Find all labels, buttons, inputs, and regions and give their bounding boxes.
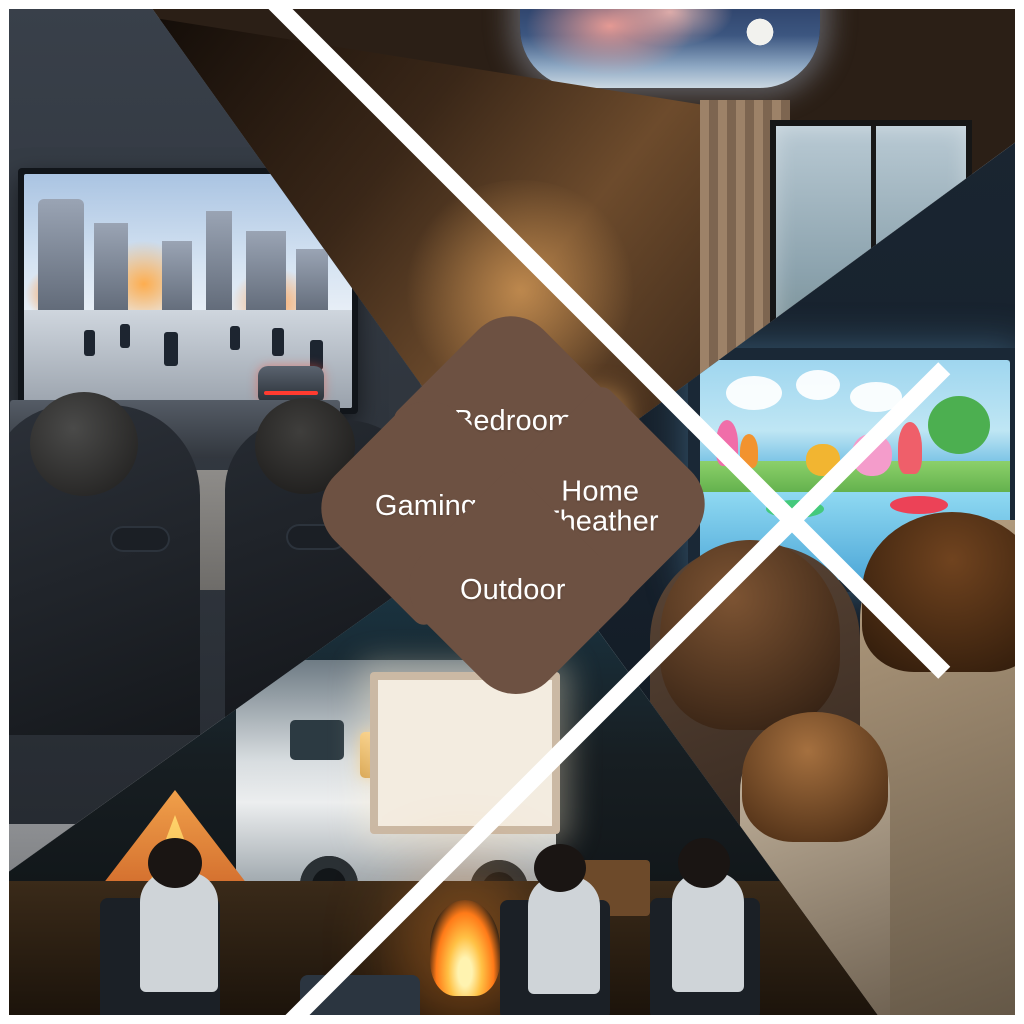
badge-label-home-theater-line1: Home bbox=[561, 475, 639, 507]
collage-root: Bedroom Gaming Home Theather Outdoor bbox=[0, 0, 1024, 1024]
center-category-badge: Bedroom Gaming Home Theather Outdoor bbox=[340, 335, 686, 675]
rv-window bbox=[290, 720, 344, 760]
player-one-head bbox=[30, 392, 138, 496]
ceiling-projection-cherry-blossom-icon bbox=[520, 0, 820, 88]
camper-head bbox=[148, 838, 202, 888]
camper bbox=[140, 872, 218, 992]
game-car bbox=[258, 366, 324, 402]
camper bbox=[528, 876, 600, 994]
badge-label-outdoor: Outdoor bbox=[460, 575, 566, 605]
viewer-child-hair bbox=[742, 712, 888, 842]
game-controller-icon bbox=[110, 526, 170, 552]
outdoor-projection-screen bbox=[370, 672, 560, 834]
campfire-icon bbox=[430, 900, 500, 996]
viewer-father-hair bbox=[862, 512, 1024, 672]
camper bbox=[672, 872, 744, 992]
camper-head bbox=[678, 838, 730, 888]
camper-head bbox=[534, 844, 586, 892]
